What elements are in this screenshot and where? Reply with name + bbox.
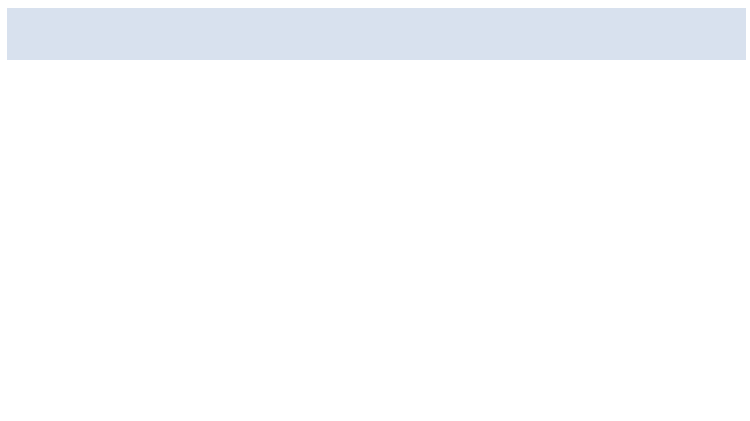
header-banner — [4, 8, 746, 60]
charts-row — [0, 62, 750, 362]
header-accent-bar — [4, 8, 7, 60]
